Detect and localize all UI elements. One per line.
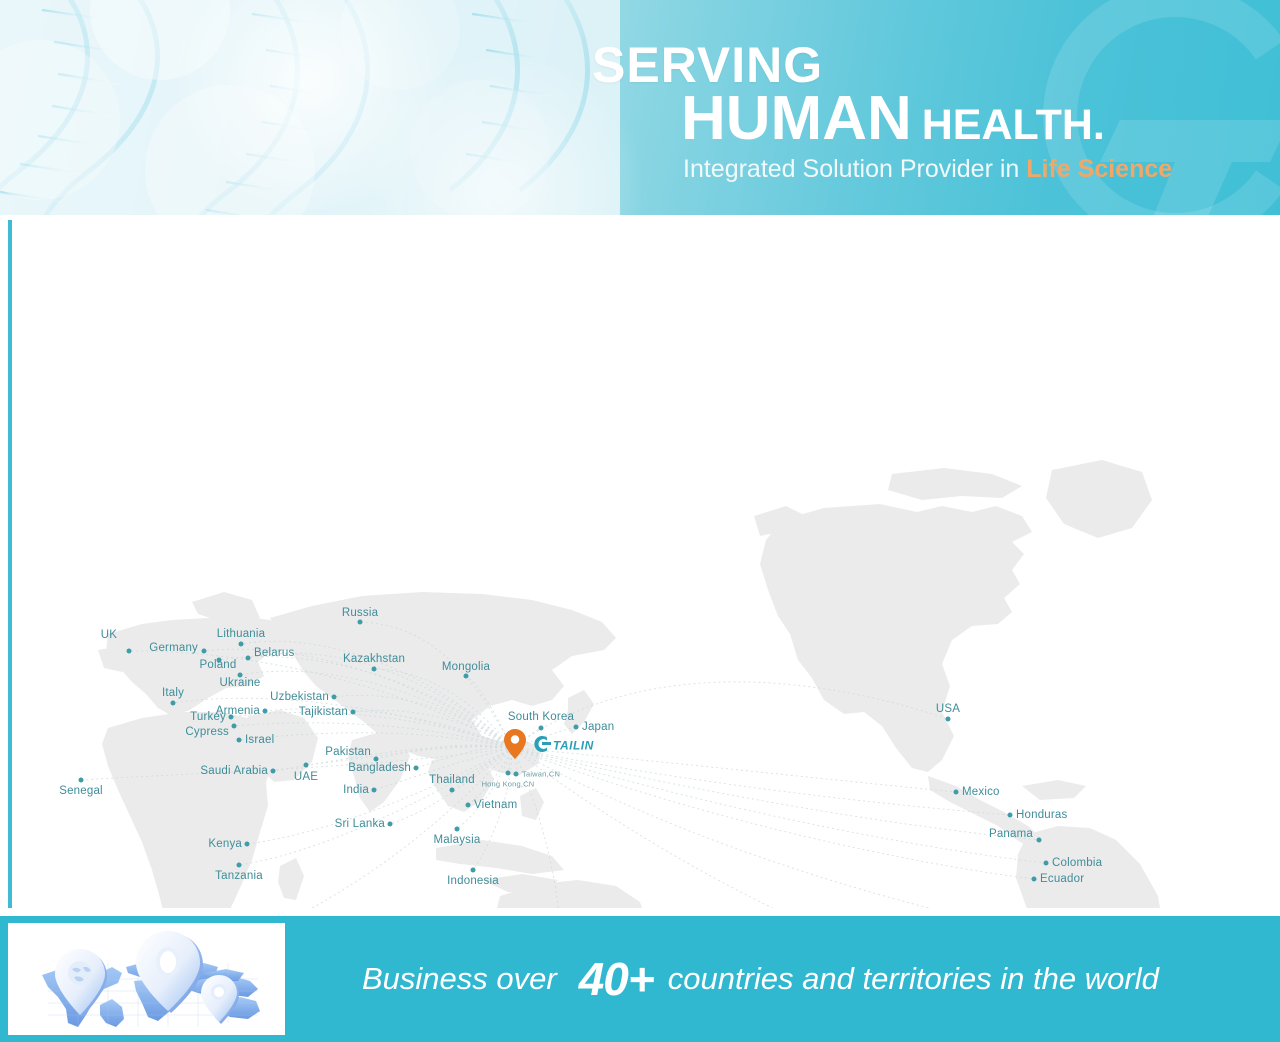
map-marker-dot[interactable] bbox=[237, 738, 242, 743]
header-word-human: HUMAN bbox=[681, 84, 912, 153]
map-label-saudi-arabia: Saudi Arabia bbox=[200, 765, 268, 777]
map-label-south-korea: South Korea bbox=[508, 711, 574, 723]
map-marker-dot[interactable] bbox=[372, 667, 377, 672]
map-label-panama: Panama bbox=[989, 828, 1033, 840]
header-line-2: HUMANHEALTH. bbox=[681, 88, 1105, 150]
map-marker-dot[interactable] bbox=[372, 788, 377, 793]
map-label-taiwan-cn: Taiwan,CN bbox=[522, 770, 560, 779]
map-label-tanzania: Tanzania bbox=[215, 870, 263, 882]
svg-text:TAILIN: TAILIN bbox=[553, 739, 594, 753]
map-label-kenya: Kenya bbox=[208, 838, 242, 850]
map-label-armenia: Armenia bbox=[216, 705, 260, 717]
map-label-belarus: Belarus bbox=[254, 647, 294, 659]
hq-marker-tailin[interactable]: TAILIN bbox=[504, 729, 704, 765]
map-label-bangladesh: Bangladesh bbox=[348, 762, 411, 774]
tagline-prefix: Integrated Solution Provider in bbox=[683, 155, 1026, 183]
map-label-uk: UK bbox=[101, 629, 117, 641]
banner-text-after: countries and territories in the world bbox=[668, 961, 1159, 997]
map-marker-dot[interactable] bbox=[1037, 838, 1042, 843]
map-label-colombia: Colombia bbox=[1052, 857, 1102, 869]
header-banner: SERVING HUMANHEALTH. Integrated Solution… bbox=[0, 0, 1280, 215]
world-map-card: UKGermanyLithuaniaBelarusPolandUkraineIt… bbox=[8, 220, 1272, 908]
header-line-1: SERVING bbox=[592, 40, 823, 90]
map-label-vietnam: Vietnam bbox=[474, 799, 517, 811]
map-label-lithuania: Lithuania bbox=[217, 628, 265, 640]
map-marker-dot[interactable] bbox=[514, 772, 519, 777]
map-marker-dot[interactable] bbox=[171, 701, 176, 706]
bottom-banner: Business over 40+ countries and territor… bbox=[0, 916, 1280, 1042]
map-label-russia: Russia bbox=[342, 607, 378, 619]
map-marker-dot[interactable] bbox=[954, 790, 959, 795]
map-marker-dot[interactable] bbox=[246, 656, 251, 661]
map-label-thailand: Thailand bbox=[429, 774, 475, 786]
map-label-indonesia: Indonesia bbox=[447, 875, 499, 887]
map-marker-dot[interactable] bbox=[388, 822, 393, 827]
map-label-ecuador: Ecuador bbox=[1040, 873, 1084, 885]
tailin-wordmark-logo: TAILIN bbox=[530, 733, 610, 755]
map-marker-dot[interactable] bbox=[232, 724, 237, 729]
header-tagline: Integrated Solution Provider in Life Sci… bbox=[683, 155, 1172, 184]
map-label-honduras: Honduras bbox=[1016, 809, 1067, 821]
map-label-hong-kong-cn: Hong Kong,CN bbox=[482, 780, 535, 789]
map-marker-dot[interactable] bbox=[239, 642, 244, 647]
map-label-tajikistan: Tajikistan bbox=[299, 706, 348, 718]
slide-root: SERVING HUMANHEALTH. Integrated Solution… bbox=[0, 0, 1280, 1042]
map-label-germany: Germany bbox=[149, 642, 198, 654]
map-label-israel: Israel bbox=[245, 734, 274, 746]
map-marker-dot[interactable] bbox=[127, 649, 132, 654]
world-map-landmasses bbox=[12, 220, 1276, 908]
map-marker-dot[interactable] bbox=[332, 695, 337, 700]
banner-text-before: Business over bbox=[362, 961, 557, 997]
map-marker-dot[interactable] bbox=[245, 842, 250, 847]
map-label-italy: Italy bbox=[162, 687, 184, 699]
map-label-usa: USA bbox=[936, 703, 960, 715]
map-marker-dot[interactable] bbox=[450, 788, 455, 793]
map-marker-dot[interactable] bbox=[351, 710, 356, 715]
map-label-india: India bbox=[343, 784, 369, 796]
map-label-pakistan: Pakistan bbox=[325, 746, 371, 758]
map-marker-dot[interactable] bbox=[271, 769, 276, 774]
map-label-cypress: Cypress bbox=[185, 726, 229, 738]
map-label-uae: UAE bbox=[294, 771, 318, 783]
map-marker-dot[interactable] bbox=[202, 649, 207, 654]
map-marker-dot[interactable] bbox=[455, 827, 460, 832]
map-marker-dot[interactable] bbox=[1044, 861, 1049, 866]
banner-count: 40+ bbox=[579, 952, 654, 1006]
map-label-ukraine: Ukraine bbox=[219, 677, 260, 689]
map-label-poland: Poland bbox=[199, 659, 236, 671]
map-label-kazakhstan: Kazakhstan bbox=[343, 653, 405, 665]
map-marker-dot[interactable] bbox=[464, 674, 469, 679]
map-marker-dot[interactable] bbox=[506, 771, 511, 776]
map-marker-dot[interactable] bbox=[1032, 877, 1037, 882]
map-marker-dot[interactable] bbox=[79, 778, 84, 783]
map-marker-dot[interactable] bbox=[946, 717, 951, 722]
header-word-health: HEALTH. bbox=[922, 101, 1105, 149]
world-map-canvas: UKGermanyLithuaniaBelarusPolandUkraineIt… bbox=[12, 220, 1276, 908]
map-marker-dot[interactable] bbox=[304, 763, 309, 768]
world-map-pins-image bbox=[8, 923, 285, 1035]
tagline-accent: Life Science bbox=[1026, 155, 1172, 183]
map-marker-dot[interactable] bbox=[414, 766, 419, 771]
map-pin-icon bbox=[504, 729, 526, 759]
map-label-mongolia: Mongolia bbox=[442, 661, 490, 673]
map-label-malaysia: Malaysia bbox=[434, 834, 481, 846]
banner-caption: Business over 40+ countries and territor… bbox=[362, 916, 1159, 1042]
map-label-sri-lanka: Sri Lanka bbox=[335, 818, 385, 830]
map-marker-dot[interactable] bbox=[374, 757, 379, 762]
map-marker-dot[interactable] bbox=[358, 620, 363, 625]
map-marker-dot[interactable] bbox=[263, 709, 268, 714]
map-marker-dot[interactable] bbox=[237, 863, 242, 868]
map-label-uzbekistan: Uzbekistan bbox=[270, 691, 329, 703]
map-label-mexico: Mexico bbox=[962, 786, 1000, 798]
world-map-pins-illustration-icon bbox=[8, 923, 285, 1035]
map-marker-dot[interactable] bbox=[471, 868, 476, 873]
map-label-senegal: Senegal bbox=[59, 785, 103, 797]
map-marker-dot[interactable] bbox=[466, 803, 471, 808]
map-marker-dot[interactable] bbox=[1008, 813, 1013, 818]
